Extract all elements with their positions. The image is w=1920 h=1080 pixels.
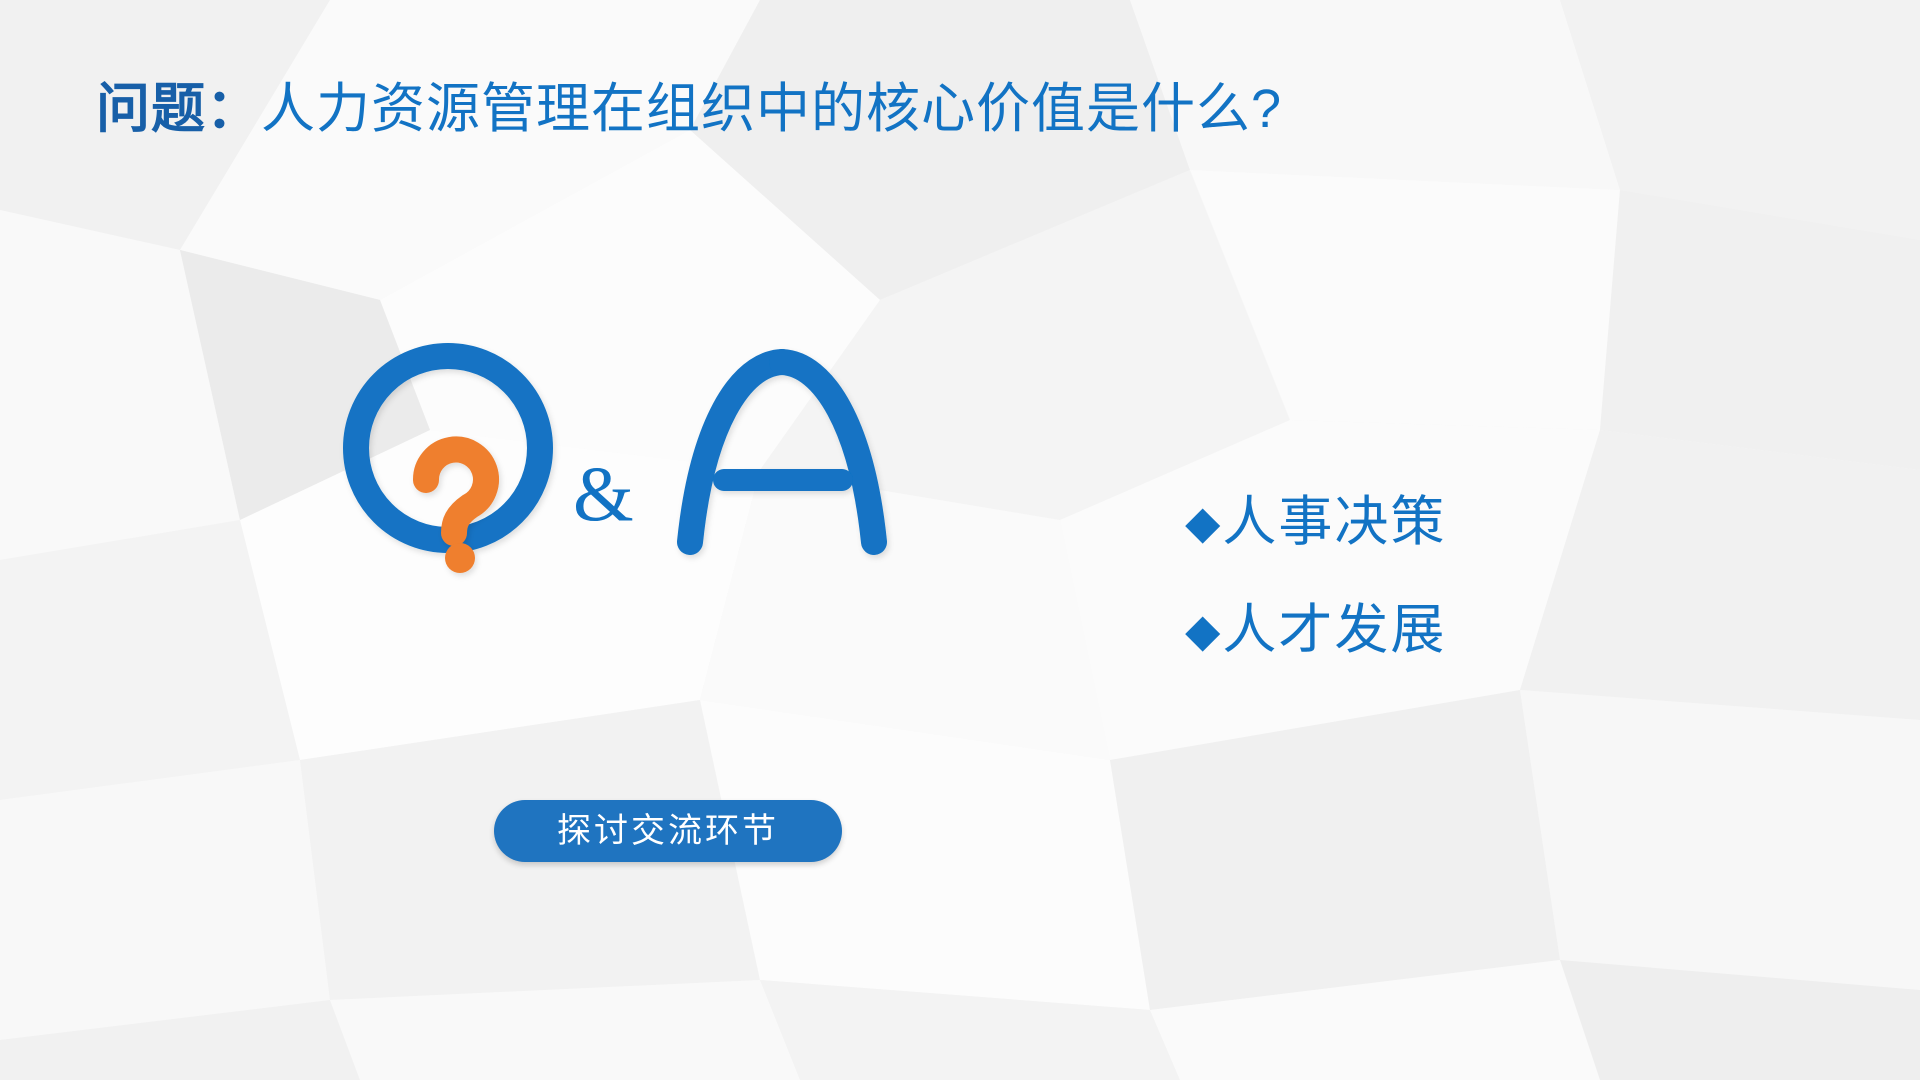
title-body: 人力资源管理在组织中的核心价值是什么?: [261, 79, 1282, 139]
bullet-label: 人才发展: [1222, 603, 1446, 657]
ampersand-icon: &: [573, 450, 634, 537]
qa-graphic: &: [330, 330, 990, 600]
list-item: ◆ 人才发展: [1185, 603, 1446, 657]
title-prefix: 问题：: [96, 79, 261, 139]
diamond-bullet-icon: ◆: [1185, 607, 1220, 653]
slide-title: 问题：人力资源管理在组织中的核心价值是什么?: [96, 78, 1282, 140]
diamond-bullet-icon: ◆: [1185, 499, 1220, 545]
list-item: ◆ 人事决策: [1185, 495, 1446, 549]
question-mark-icon: [426, 449, 486, 573]
discussion-session-label: 探讨交流环节: [557, 814, 779, 848]
discussion-session-badge[interactable]: 探讨交流环节: [494, 800, 842, 862]
slide-canvas: 问题：人力资源管理在组织中的核心价值是什么? & ◆ 人事决: [0, 0, 1920, 1080]
bullet-label: 人事决策: [1222, 495, 1446, 549]
letter-a-icon: [690, 362, 874, 542]
bullet-list: ◆ 人事决策 ◆ 人才发展: [1185, 495, 1446, 657]
